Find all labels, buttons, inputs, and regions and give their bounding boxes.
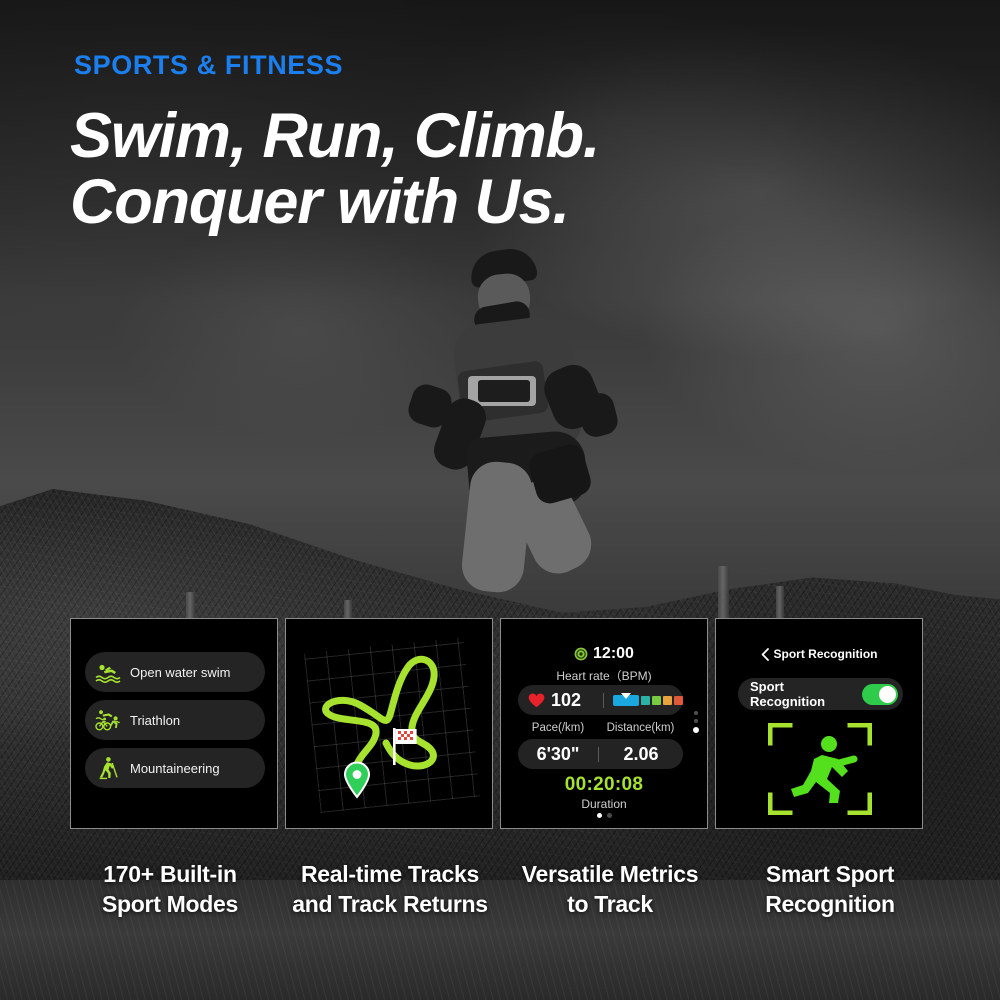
card-realtime-track <box>285 618 493 829</box>
list-item-label: Open water swim <box>130 665 230 680</box>
zone-current <box>613 695 639 706</box>
scroll-dot-active <box>693 727 699 733</box>
zone-segment <box>663 696 672 705</box>
triathlon-icon <box>95 708 121 732</box>
eyebrow-label: SPORTS & FITNESS <box>74 50 343 81</box>
scroll-dot <box>694 719 698 723</box>
scroll-indicator[interactable] <box>693 711 699 733</box>
list-item[interactable]: Triathlon <box>85 700 265 740</box>
caption-line-2: to Track <box>500 890 720 920</box>
caption-realtime-track: Real-time Tracks and Track Returns <box>280 860 500 920</box>
caption-line-2: Sport Modes <box>60 890 280 920</box>
caption-line-1: Smart Sport <box>720 860 940 890</box>
card-sport-recognition: Sport Recognition Sport Recognition <box>715 618 923 829</box>
caption-line-1: 170+ Built-in <box>60 860 280 890</box>
caption-versatile-metrics: Versatile Metrics to Track <box>500 860 720 920</box>
zone-marker-icon <box>621 693 631 699</box>
distance-value: 2.06 <box>623 744 658 764</box>
duration-value: 00:20:08 <box>501 774 707 796</box>
sport-modes-list: Open water swim Triathlon <box>85 652 265 788</box>
sport-recognition-toggle-row[interactable]: Sport Recognition <box>738 678 903 710</box>
toggle-knob <box>879 686 896 703</box>
caption-line-2: and Track Returns <box>280 890 500 920</box>
page-title: Swim, Run, Climb. Conquer with Us. <box>70 104 770 235</box>
pace-label: Pace(/km) <box>518 722 598 734</box>
runner-silhouette <box>382 248 644 610</box>
caption-line-1: Real-time Tracks <box>280 860 500 890</box>
status-row: 12:00 <box>501 645 707 663</box>
screen-title: Sport Recognition <box>774 647 878 661</box>
page-dot <box>607 813 612 818</box>
scroll-dot <box>694 711 698 715</box>
card-sport-modes: Open water swim Triathlon <box>70 618 278 829</box>
list-item[interactable]: Open water swim <box>85 652 265 692</box>
running-figure-icon <box>782 735 858 805</box>
caption-line-2: Recognition <box>720 890 940 920</box>
heart-rate-label: Heart rate（BPM) <box>501 667 707 684</box>
caption-row: 170+ Built-in Sport Modes Real-time Trac… <box>60 860 940 920</box>
zone-segment <box>674 696 683 705</box>
headline-line-2: Conquer with Us. <box>70 170 770 236</box>
swimmer-icon <box>95 660 121 684</box>
page-indicator[interactable] <box>501 813 707 818</box>
list-item-label: Mountaineering <box>130 761 220 776</box>
caption-sport-modes: 170+ Built-in Sport Modes <box>60 860 280 920</box>
route-track <box>286 619 493 829</box>
heart-rate-value: 102 <box>551 690 581 711</box>
distance-label: Distance(km) <box>598 722 683 734</box>
zone-segment <box>652 696 661 705</box>
pace-distance-row[interactable]: 6'30" 2.06 <box>518 739 683 769</box>
heart-rate-zone-bar <box>613 695 683 706</box>
toggle-switch[interactable] <box>862 684 898 705</box>
heart-rate-row[interactable]: 102 <box>518 685 683 715</box>
caption-sport-recognition: Smart Sport Recognition <box>720 860 940 920</box>
toggle-label: Sport Recognition <box>750 679 862 709</box>
screen-header: Sport Recognition <box>716 647 922 661</box>
checkered-flag-icon <box>388 725 422 767</box>
list-item[interactable]: Mountaineering <box>85 748 265 788</box>
pace-value: 6'30" <box>537 744 580 764</box>
feature-cards-row: Open water swim Triathlon <box>70 618 930 829</box>
duration-label: Duration <box>501 797 707 811</box>
list-item-label: Triathlon <box>130 713 180 728</box>
mountaineering-icon <box>95 756 121 780</box>
gps-signal-icon <box>574 647 588 661</box>
heart-icon <box>528 693 545 708</box>
caption-line-1: Versatile Metrics <box>500 860 720 890</box>
headline-line-1: Swim, Run, Climb. <box>70 104 770 170</box>
zone-segment <box>641 696 650 705</box>
card-versatile-metrics: 12:00 Heart rate（BPM) 102 <box>500 618 708 829</box>
divider <box>603 693 604 708</box>
watch-time: 12:00 <box>593 645 634 663</box>
page-dot-active <box>597 813 602 818</box>
location-pin-icon <box>342 761 372 799</box>
chevron-left-icon[interactable] <box>761 648 769 661</box>
